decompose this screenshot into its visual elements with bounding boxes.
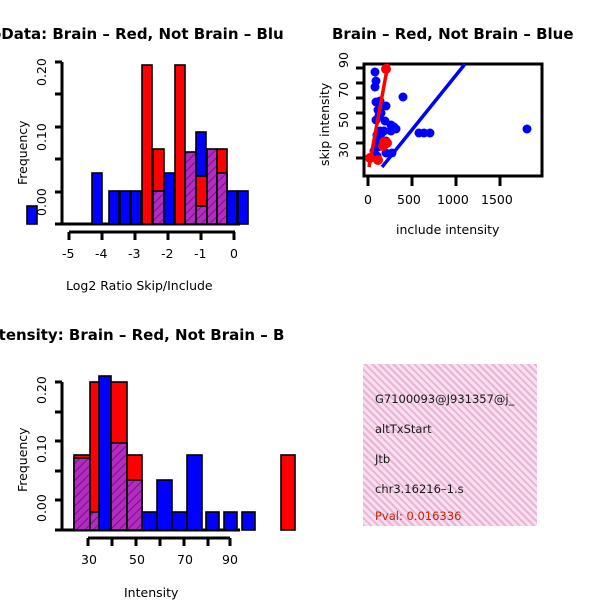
- bar-blue: [206, 512, 219, 530]
- x-ticklabel: 1000: [437, 192, 469, 207]
- y-axis-ticks: [356, 68, 364, 158]
- x-ticklabel: -4: [95, 246, 107, 261]
- x-ticklabel: -2: [161, 246, 173, 261]
- x-ticklabel: 1500: [481, 192, 513, 207]
- textbox-line-gene: Jtb: [375, 452, 390, 466]
- bar-red: [142, 65, 152, 224]
- bar-blue: [224, 512, 237, 530]
- fit-line-not-brain: [382, 64, 465, 167]
- x-ticklabel: 500: [397, 192, 421, 207]
- bar-blue: [109, 191, 119, 224]
- bar-overlap: [196, 206, 207, 224]
- bar-blue: [131, 191, 141, 224]
- textbox-line-locus: chr3.16216–1.s: [375, 482, 464, 496]
- bar-blue: [92, 173, 102, 224]
- x-ticklabel: -3: [128, 246, 140, 261]
- textbox-line-pvalue: Pval: 0.016336: [375, 509, 461, 523]
- y-ticklabel: 0.20: [34, 58, 49, 86]
- bar-blue: [164, 173, 174, 224]
- bar-overlap: [153, 191, 164, 224]
- bar-blue: [187, 455, 202, 530]
- textbox-line-event: altTxStart: [375, 422, 432, 436]
- x-axis-label: Intensity: [124, 585, 178, 600]
- y-ticklabel: 0.10: [34, 435, 49, 463]
- bar-overlap: [207, 149, 217, 224]
- bar-blue: [196, 132, 206, 176]
- x-ticklabel: -5: [62, 246, 74, 261]
- panel-title-ratio-histogram: RatioData: Brain – Red, Not Brain – Blu: [0, 25, 284, 43]
- y-ticklabel: 90: [336, 52, 351, 68]
- x-ticklabel: 30: [81, 552, 97, 567]
- bar-blue: [99, 376, 111, 530]
- x-ticklabel: 0: [364, 192, 372, 207]
- bar-blue: [172, 512, 187, 530]
- bar-blue: [238, 191, 248, 224]
- bar-overlap: [217, 173, 227, 224]
- y-ticklabel: 0.10: [34, 123, 49, 151]
- bar-overlap: [74, 458, 90, 530]
- x-ticklabel: 70: [177, 552, 193, 567]
- panel-ratio-histogram: RatioData: Brain – Red, Not Brain – Blu: [0, 0, 300, 300]
- bar-overlap: [111, 443, 127, 530]
- y-axis-label: Frequency: [15, 427, 30, 492]
- bar-blue: [142, 512, 157, 530]
- y-ticklabel: 50: [336, 112, 351, 128]
- y-ticklabel: 0.20: [34, 376, 49, 404]
- panel-title-intensity-scatter: Brain – Red, Not Brain – Blue: [332, 25, 574, 43]
- panel-intensity-histogram: ne Itensity: Brain – Red, Not Brain – B: [0, 300, 300, 600]
- x-ticklabel: 0: [230, 246, 238, 261]
- x-ticklabel: 90: [222, 552, 238, 567]
- x-ticklabel: 50: [129, 552, 145, 567]
- panel-title-intensity-histogram: ne Itensity: Brain – Red, Not Brain – B: [0, 326, 284, 344]
- y-ticklabel: 70: [336, 82, 351, 98]
- annotation-textbox: G7100093@J931357@j_ altTxStart Jtb chr3.…: [363, 364, 537, 526]
- x-axis-label: include intensity: [396, 222, 499, 237]
- x-axis-label: Log2 Ratio Skip/Include: [66, 278, 213, 293]
- y-axis-label: skip intensity: [317, 83, 332, 166]
- y-ticklabel: 0.00: [34, 494, 49, 522]
- bar-blue: [157, 480, 172, 530]
- histogram-bars: [74, 376, 237, 530]
- y-axis-label: Frequency: [15, 120, 30, 185]
- bar-overlap: [127, 480, 142, 530]
- y-ticklabel: 0.00: [34, 188, 49, 216]
- bar-blue: [227, 191, 237, 224]
- x-ticklabel: -1: [194, 246, 206, 261]
- panel-intensity-scatter: Brain – Red, Not Brain – Blue: [300, 0, 600, 300]
- textbox-line-id: G7100093@J931357@j_: [375, 392, 514, 406]
- y-ticklabel: 30: [336, 142, 351, 158]
- bar-red: [175, 65, 185, 224]
- histogram-bars: [27, 65, 248, 224]
- bar-blue: [120, 191, 130, 224]
- bar-overlap: [185, 152, 196, 224]
